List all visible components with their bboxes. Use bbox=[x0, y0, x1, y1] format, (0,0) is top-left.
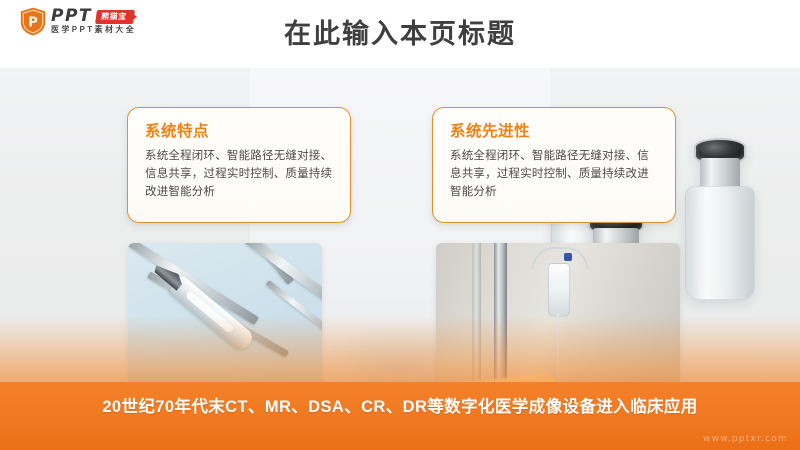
page-title: 在此输入本页标题 bbox=[0, 16, 800, 52]
info-card-title: 系统特点 bbox=[145, 122, 333, 142]
vial-secondary-right bbox=[684, 138, 756, 298]
iv-drip-chamber bbox=[548, 263, 570, 317]
iv-clip-icon bbox=[564, 253, 572, 261]
info-card-system-advancement[interactable]: 系统先进性 系统全程闭环、智能路径无缝对接、信息共享，过程实时控制、质量持续改进… bbox=[432, 107, 676, 223]
slide-root: 系统特点 系统全程闭环、智能路径无缝对接、信息共享，过程实时控制、质量持续改进智… bbox=[0, 0, 800, 450]
bottom-banner-text: 20世纪70年代末CT、MR、DSA、CR、DR等数字化医学成像设备进入临床应用 bbox=[0, 396, 800, 418]
info-card-body: 系统全程闭环、智能路径无缝对接、信息共享，过程实时控制、质量持续改进智能分析 bbox=[450, 147, 658, 201]
slide-header: P PPT 熊猫宝 医学PPT素材大全 在此输入本页标题 bbox=[0, 0, 800, 68]
watermark-url: www.pptxr.com bbox=[703, 434, 788, 444]
bottom-banner: 20世纪70年代末CT、MR、DSA、CR、DR等数字化医学成像设备进入临床应用… bbox=[0, 382, 800, 450]
info-card-body: 系统全程闭环、智能路径无缝对接、信息共享，过程实时控制、质量持续改进智能分析 bbox=[145, 147, 333, 201]
info-card-system-features[interactable]: 系统特点 系统全程闭环、智能路径无缝对接、信息共享，过程实时控制、质量持续改进智… bbox=[127, 107, 351, 223]
vial-body bbox=[685, 186, 755, 300]
info-card-title: 系统先进性 bbox=[450, 122, 658, 142]
